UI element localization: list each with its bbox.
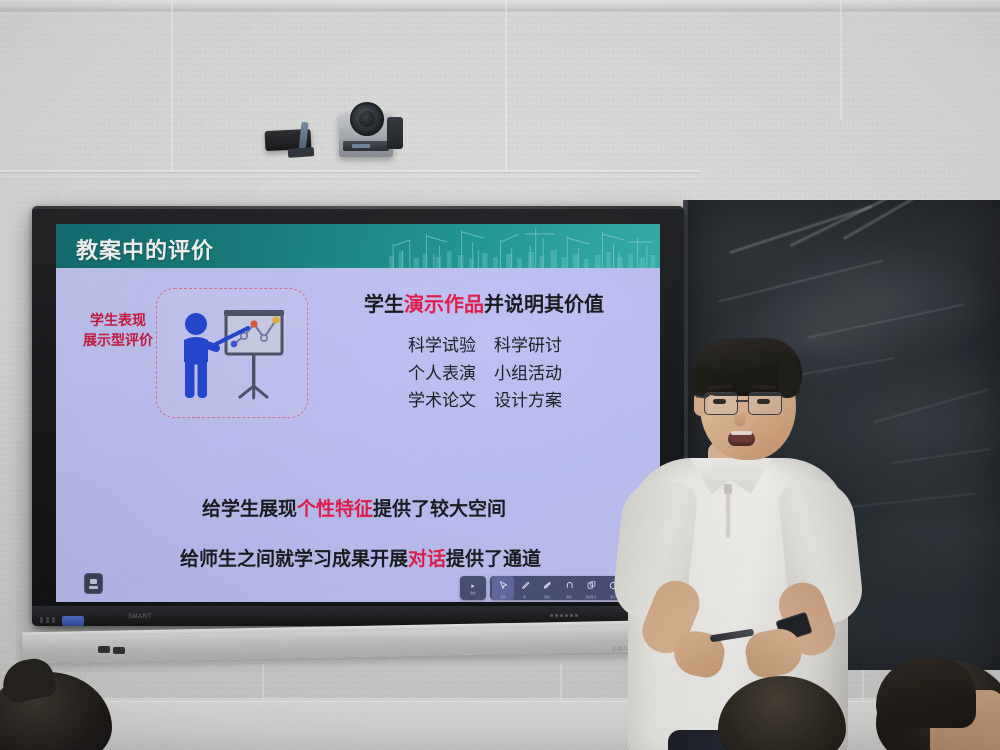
left-label-line1: 学生表现: [70, 310, 166, 330]
eraser-icon: [543, 578, 552, 594]
screenshot-icon: [587, 578, 596, 594]
headline-suffix: 并说明其价值: [484, 294, 604, 316]
hair-side-right: [778, 360, 800, 398]
toolbar-label: 屏幕批注: [586, 595, 597, 599]
camera-wall-mount: [387, 117, 403, 149]
eyeglasses-bridge: [736, 400, 748, 402]
teeth: [731, 431, 752, 435]
left-label-line2: 展示型评价: [70, 330, 166, 350]
toolbar-item-screenshot[interactable]: 屏幕批注: [580, 576, 602, 600]
headline-highlight: 演示作品: [404, 294, 484, 316]
keyword-cell: 设计方案: [494, 387, 562, 415]
keyword-cell: 学术论文: [408, 387, 494, 415]
keyword-row: 科学试验科学研讨: [408, 332, 562, 360]
undo-icon: [565, 578, 574, 594]
classroom-photo-scene: 教案中的评价: [0, 0, 1000, 750]
toolbar-item-eraser[interactable]: 擦除: [536, 576, 558, 600]
keyword-cell: 个人表演: [408, 360, 494, 388]
toolbar-item-collapse[interactable]: ▸ 收起: [462, 581, 484, 596]
presenter: [612, 330, 862, 750]
presentation-slide[interactable]: 教案中的评价: [56, 224, 660, 602]
bottom-statement-2: 给师生之间就学习成果开展对话提供了通道: [180, 544, 541, 571]
ptz-conference-camera: [333, 101, 399, 159]
usb-port-icon: [98, 646, 110, 653]
statement2-prefix: 给师生之间就学习成果开展: [180, 549, 408, 570]
shirt-zipper: [724, 484, 732, 494]
left-label-block: 学生表现 展示型评价: [70, 310, 166, 351]
ceiling-trim: [0, 0, 1000, 12]
presenter-at-flipchart-icon: [174, 302, 290, 406]
keyword-cell: 科学研讨: [494, 332, 562, 360]
minimize-window-icon-base: [89, 586, 98, 589]
wall-seam: [0, 176, 700, 178]
usb-port-icon: [113, 647, 125, 654]
sensor-mount: [288, 147, 315, 158]
panel-screen[interactable]: 教案中的评价: [56, 224, 660, 602]
interactive-flat-panel[interactable]: 教案中的评价: [32, 206, 684, 626]
statement2-highlight: 对话: [408, 549, 446, 570]
slide-title: 教案中的评价: [76, 233, 214, 265]
panel-indicator-dots: [550, 614, 578, 617]
statement1-highlight: 个性特征: [297, 499, 373, 520]
keyword-cell: 科学试验: [408, 332, 494, 360]
slide-headline: 学生演示作品并说明其价值: [364, 288, 604, 317]
toolbar-label: 笔: [524, 595, 527, 599]
wall-seam: [171, 0, 173, 172]
camera-lens-glass: [359, 111, 375, 127]
panel-status-chip: [62, 616, 84, 626]
camera-indicator: [352, 144, 370, 148]
toolbar-label: 撤销: [566, 595, 571, 599]
wall-seam: [840, 0, 842, 120]
wall-seam: [0, 170, 700, 172]
panel-brand-text: SMART: [128, 614, 151, 620]
toolbar-item-undo[interactable]: 撤销: [558, 576, 580, 600]
statement1-suffix: 提供了较大空间: [373, 499, 506, 520]
toolbar-label: 擦除: [544, 595, 549, 599]
keyword-cell: 小组活动: [494, 360, 562, 388]
keyword-grid: 科学试验科学研讨 个人表演小组活动 学术论文设计方案: [408, 332, 562, 415]
bottom-statement-1: 给学生展现个性特征提供了较大空间: [202, 494, 506, 521]
toolbar-collapse-group[interactable]: ▸ 收起: [460, 576, 486, 600]
minimize-window-icon: [90, 579, 97, 584]
eye-left: [713, 399, 726, 404]
toolbar-item-select[interactable]: 选择: [492, 576, 514, 600]
city-skyline-icon: [382, 224, 660, 268]
wall-seam: [505, 0, 507, 172]
headline-prefix: 学生: [364, 294, 404, 316]
eye-right: [757, 399, 770, 404]
pen-icon: [521, 578, 530, 594]
statement1-prefix: 给学生展现: [202, 499, 297, 520]
keyword-row: 个人表演小组活动: [408, 360, 562, 388]
panel-bezel-highlight: [32, 206, 684, 209]
minimize-window-button[interactable]: [84, 573, 103, 594]
statement2-suffix: 提供了通道: [446, 549, 541, 570]
toolbar-label: 选择: [500, 595, 505, 599]
cursor-select-icon: [499, 578, 508, 594]
toolbar-item-pen[interactable]: 笔: [514, 576, 536, 600]
nose: [734, 410, 746, 426]
sidebar-handle-icon: ▸: [471, 583, 475, 590]
keyword-row: 学术论文设计方案: [408, 387, 562, 415]
slide-header-bar: 教案中的评价: [56, 224, 660, 268]
toolbar-label: 收起: [470, 591, 475, 595]
panel-led-group: [40, 617, 55, 623]
